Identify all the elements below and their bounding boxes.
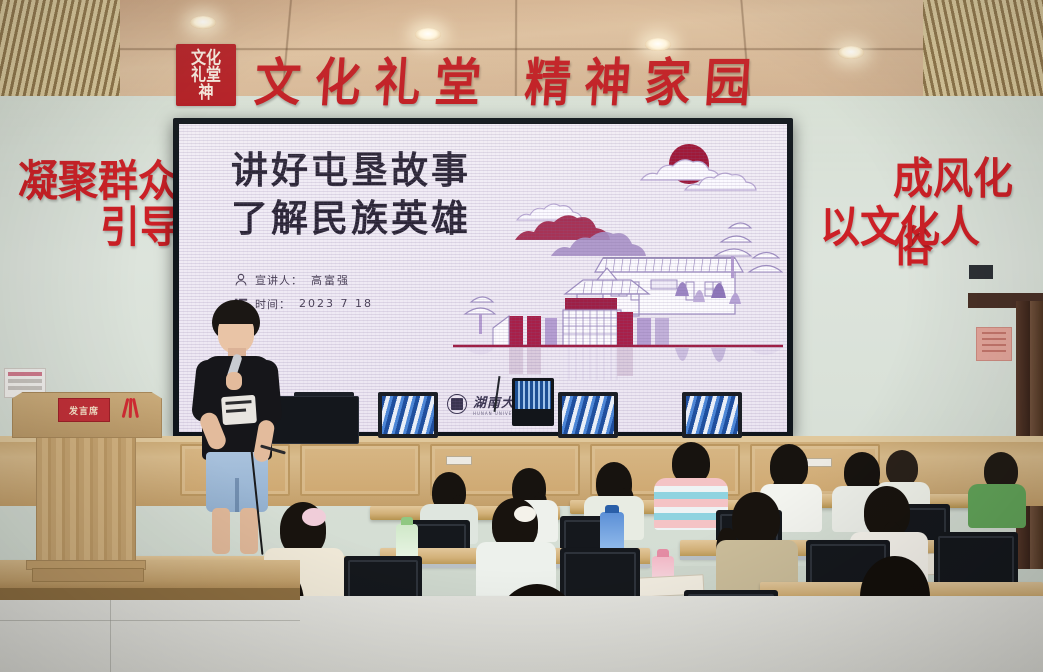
control-monitor[interactable] xyxy=(512,378,554,426)
speaker-podium[interactable]: 发言席 xyxy=(12,392,162,592)
patterned-chair[interactable] xyxy=(558,392,618,438)
slide-title-line2: 了解民族英雄 xyxy=(231,194,471,242)
hall-banner-text: 文化礼堂 精神家园 xyxy=(252,42,767,116)
ceiling-light xyxy=(415,28,441,41)
door-sign xyxy=(969,265,993,279)
floor xyxy=(0,596,1043,672)
time-label: 时间： xyxy=(255,296,291,312)
front-pavilion xyxy=(563,298,621,346)
audience-head xyxy=(886,450,918,486)
wall-switch-plate[interactable] xyxy=(806,458,832,467)
water-reflection xyxy=(465,348,782,380)
patterned-chair[interactable] xyxy=(682,392,742,438)
colored-clouds xyxy=(515,215,646,256)
podium-plaque: 发言席 xyxy=(58,398,110,422)
door-jamb xyxy=(1016,301,1030,569)
patterned-chair[interactable] xyxy=(378,392,438,438)
slide-title: 讲好屯垦故事 了解民族英雄 xyxy=(231,146,471,242)
speaker-row: 宣讲人： 高富强 xyxy=(234,270,373,289)
audience-torso xyxy=(968,484,1026,528)
chinese-architecture-illustration xyxy=(453,132,783,402)
hall-seal-text: 文化礼堂神 xyxy=(185,49,227,101)
assembly-hall-photo: 文化礼堂神 文化礼堂 精神家园 凝聚群众 引导群人 成风化俗 以文化人 讲好屯垦… xyxy=(0,0,1043,672)
hall-seal-logo: 文化礼堂神 xyxy=(176,44,236,106)
presenter-hair xyxy=(214,306,258,324)
wall-switch-plate[interactable] xyxy=(446,456,472,465)
sun-and-clouds xyxy=(517,144,756,220)
red-tassel xyxy=(124,398,140,422)
hair-bow xyxy=(514,506,536,522)
podium-plaque-text: 发言席 xyxy=(69,404,99,417)
door-leaf[interactable] xyxy=(1030,301,1043,569)
wall-calligraphy-right-inner: 以文化人 xyxy=(820,196,980,259)
audience-head xyxy=(732,492,780,546)
laptop[interactable] xyxy=(271,396,359,444)
shirt-graphic xyxy=(221,395,257,425)
wall-poster xyxy=(976,327,1012,361)
person-icon xyxy=(234,273,248,287)
slide-title-line1: 讲好屯垦故事 xyxy=(231,146,471,194)
hall-banner: 文化礼堂 精神家园 xyxy=(255,48,855,110)
hair-bow xyxy=(302,508,326,526)
calligraphy-text: 以文化人 xyxy=(820,193,980,261)
speaker-name: 高富强 xyxy=(311,272,350,288)
speaker-label: 宣讲人： xyxy=(255,272,303,288)
time-value: 2023 7 18 xyxy=(299,297,373,310)
ceiling-light xyxy=(190,16,216,29)
